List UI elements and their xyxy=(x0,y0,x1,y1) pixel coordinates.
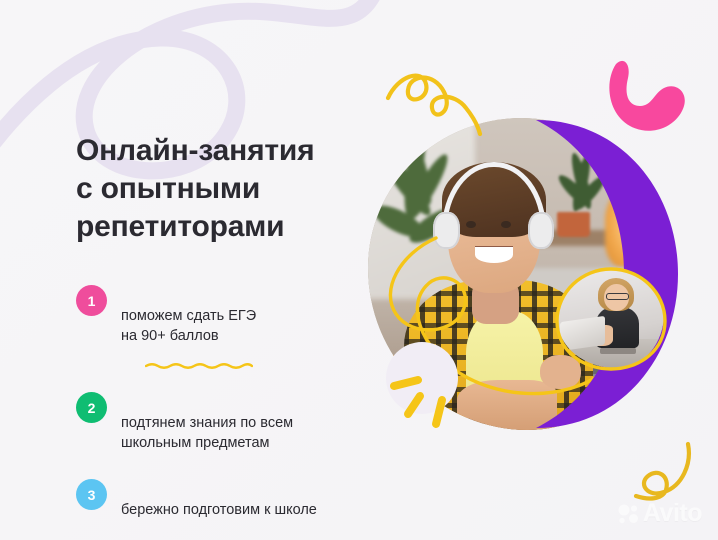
avito-logo-icon xyxy=(616,502,640,526)
badge-number-2: 2 xyxy=(76,392,107,423)
avito-watermark: Avito xyxy=(616,499,702,528)
list-item-label: подтянем знания по всем школьным предмет… xyxy=(121,415,293,452)
list-item: 3 бережно подготовим к школе xyxy=(76,478,376,520)
list-item: 2 подтянем знания по всем школьным предм… xyxy=(76,391,376,454)
list-item-text: бережно подготовим к школе xyxy=(121,478,317,520)
tutor-inset-photo xyxy=(554,266,668,372)
yellow-single-loop-icon xyxy=(628,438,704,504)
list-item: 1 поможем сдать ЕГЭ на 90+ баллов xyxy=(76,284,376,367)
inset-outline-icon xyxy=(554,266,668,372)
promo-poster: Онлайн-занятия с опытными репетиторами 1… xyxy=(0,0,718,540)
list-item-label: поможем сдать ЕГЭ на 90+ баллов xyxy=(121,308,256,345)
avito-label: Avito xyxy=(643,499,702,528)
badge-number-1: 1 xyxy=(76,285,107,316)
hero-photo xyxy=(368,118,684,430)
page-title: Онлайн-занятия с опытными репетиторами xyxy=(76,132,376,246)
wavy-underline-icon xyxy=(145,362,253,369)
benefit-list: 1 поможем сдать ЕГЭ на 90+ баллов 2 подт… xyxy=(76,284,376,520)
list-item-text: подтянем знания по всем школьным предмет… xyxy=(121,391,293,454)
list-item-text: поможем сдать ЕГЭ на 90+ баллов xyxy=(121,284,256,367)
list-item-label: бережно подготовим к школе xyxy=(121,502,317,518)
badge-number-3: 3 xyxy=(76,479,107,510)
